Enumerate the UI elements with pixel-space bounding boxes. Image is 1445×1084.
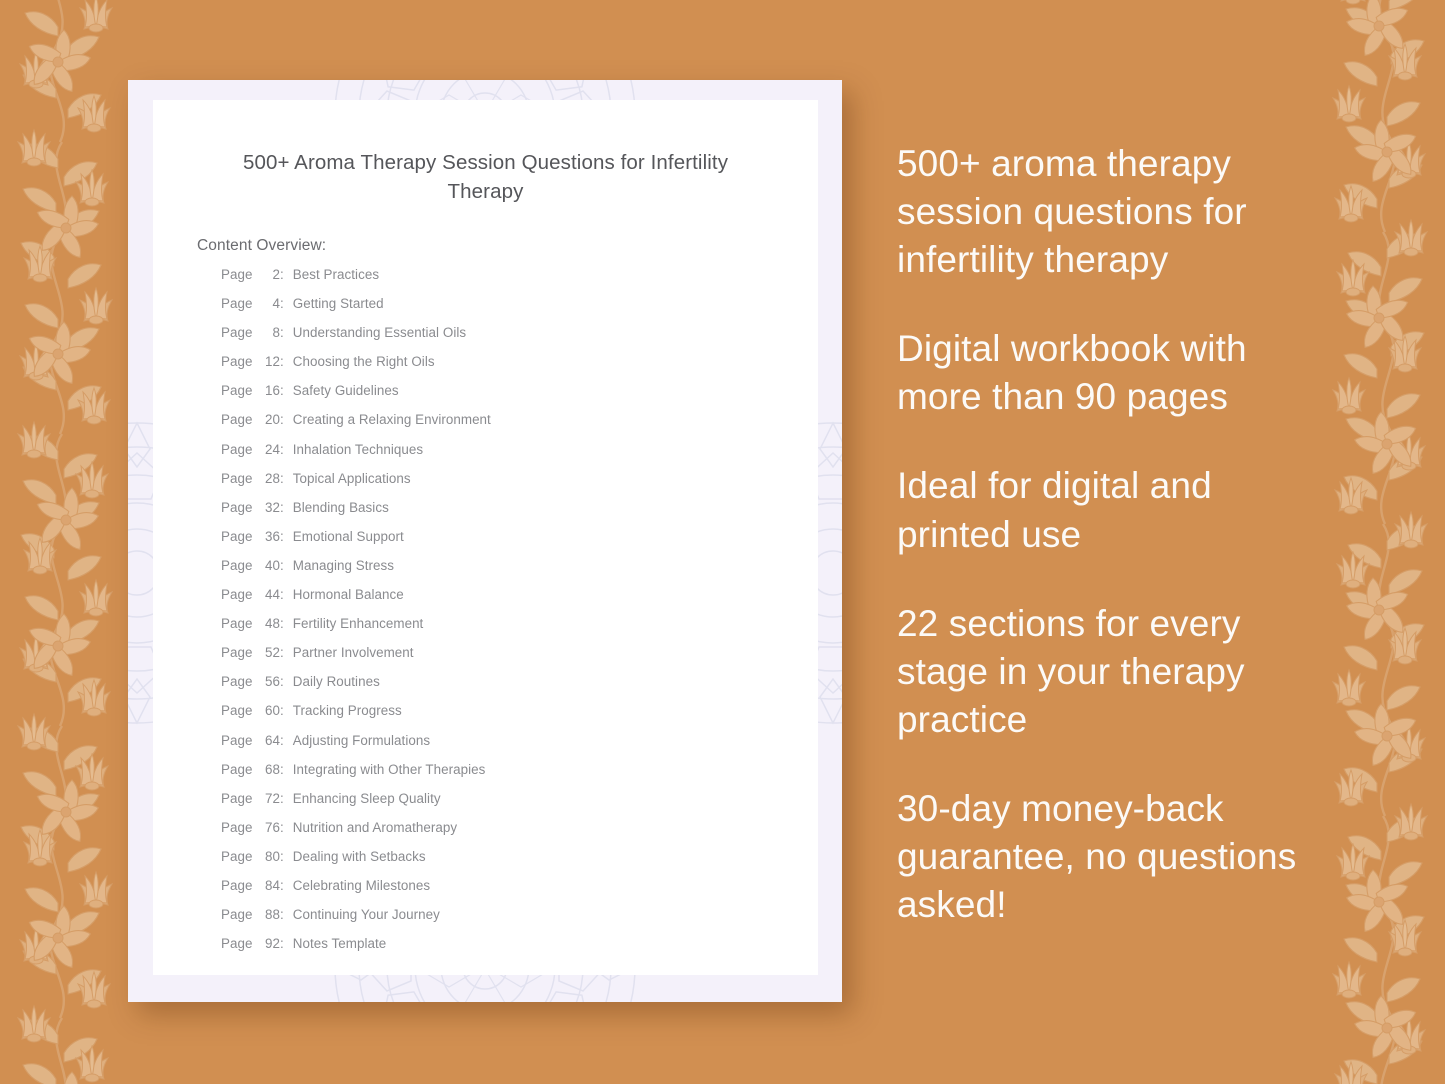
toc-section-title: Enhancing Sleep Quality: [293, 791, 441, 806]
toc-separator: :: [280, 791, 293, 806]
marketing-bullet: 30-day money-back guarantee, no question…: [897, 785, 1327, 929]
toc-page-word: Page: [221, 442, 258, 457]
toc-separator: :: [280, 558, 293, 573]
toc-section-title: Celebrating Milestones: [293, 878, 430, 893]
toc-page-number: 64: [258, 733, 280, 748]
toc-row: Page72:Enhancing Sleep Quality: [221, 791, 781, 820]
toc-row: Page48:Fertility Enhancement: [221, 616, 781, 645]
toc-separator: :: [280, 500, 293, 515]
toc-row: Page4:Getting Started: [221, 296, 781, 325]
toc-section-title: Daily Routines: [293, 674, 380, 689]
toc-section-title: Continuing Your Journey: [293, 907, 440, 922]
toc-page-number: 84: [258, 878, 280, 893]
toc-row: Page12:Choosing the Right Oils: [221, 354, 781, 383]
toc-separator: :: [280, 529, 293, 544]
toc-page-number: 88: [258, 907, 280, 922]
toc-page-number: 72: [258, 791, 280, 806]
workbook-page-card: 500+ Aroma Therapy Session Questions for…: [128, 80, 842, 1002]
toc-section-title: Topical Applications: [293, 471, 411, 486]
toc-page-word: Page: [221, 733, 258, 748]
toc-row: Page16:Safety Guidelines: [221, 383, 781, 412]
toc-page-word: Page: [221, 674, 258, 689]
toc-page-number: 48: [258, 616, 280, 631]
marketing-bullet: Ideal for digital and printed use: [897, 462, 1327, 558]
toc-page-number: 12: [258, 354, 280, 369]
toc-section-title: Inhalation Techniques: [293, 442, 423, 457]
toc-section-title: Creating a Relaxing Environment: [293, 412, 491, 427]
toc-row: Page84:Celebrating Milestones: [221, 878, 781, 907]
toc-section-title: Dealing with Setbacks: [293, 849, 426, 864]
toc-page-word: Page: [221, 500, 258, 515]
workbook-page-sheet: 500+ Aroma Therapy Session Questions for…: [153, 100, 818, 975]
toc-section-title: Safety Guidelines: [293, 383, 399, 398]
toc-separator: :: [280, 674, 293, 689]
toc-page-number: 52: [258, 645, 280, 660]
toc-separator: :: [280, 820, 293, 835]
toc-row: Page52:Partner Involvement: [221, 645, 781, 674]
toc-page-number: 40: [258, 558, 280, 573]
toc-section-title: Fertility Enhancement: [293, 616, 424, 631]
floral-vine-border-left-icon: [0, 0, 136, 1084]
toc-separator: :: [280, 442, 293, 457]
toc-separator: :: [280, 849, 293, 864]
toc-page-word: Page: [221, 820, 258, 835]
toc-row: Page68:Integrating with Other Therapies: [221, 762, 781, 791]
toc-separator: :: [280, 354, 293, 369]
toc-page-word: Page: [221, 354, 258, 369]
toc-page-number: 24: [258, 442, 280, 457]
toc-section-title: Tracking Progress: [293, 703, 402, 718]
toc-page-word: Page: [221, 412, 258, 427]
toc-page-number: 8: [258, 325, 280, 340]
toc-row: Page64:Adjusting Formulations: [221, 733, 781, 762]
toc-page-word: Page: [221, 849, 258, 864]
toc-separator: :: [280, 471, 293, 486]
toc-section-title: Nutrition and Aromatherapy: [293, 820, 457, 835]
toc-separator: :: [280, 762, 293, 777]
toc-row: Page80:Dealing with Setbacks: [221, 849, 781, 878]
marketing-bullet: 500+ aroma therapy session questions for…: [897, 140, 1327, 284]
toc-separator: :: [280, 733, 293, 748]
toc-page-word: Page: [221, 936, 258, 951]
toc-separator: :: [280, 616, 293, 631]
marketing-bullet: Digital workbook with more than 90 pages: [897, 325, 1327, 421]
toc-row: Page8:Understanding Essential Oils: [221, 325, 781, 354]
toc-section-title: Notes Template: [293, 936, 387, 951]
toc-page-number: 56: [258, 674, 280, 689]
marketing-copy-column: 500+ aroma therapy session questions for…: [897, 140, 1327, 929]
toc-row: Page24:Inhalation Techniques: [221, 442, 781, 471]
toc-row: Page56:Daily Routines: [221, 674, 781, 703]
toc-page-word: Page: [221, 645, 258, 660]
toc-page-word: Page: [221, 616, 258, 631]
marketing-bullet: 22 sections for every stage in your ther…: [897, 600, 1327, 744]
toc-separator: :: [280, 703, 293, 718]
toc-page-word: Page: [221, 383, 258, 398]
toc-section-title: Best Practices: [293, 267, 379, 282]
toc-page-number: 16: [258, 383, 280, 398]
toc-separator: :: [280, 296, 293, 311]
toc-section-title: Choosing the Right Oils: [293, 354, 435, 369]
toc-row: Page60:Tracking Progress: [221, 703, 781, 732]
toc-separator: :: [280, 267, 293, 282]
toc-page-word: Page: [221, 325, 258, 340]
toc-row: Page76:Nutrition and Aromatherapy: [221, 820, 781, 849]
toc-page-number: 76: [258, 820, 280, 835]
toc-separator: :: [280, 645, 293, 660]
toc-section-title: Blending Basics: [293, 500, 389, 515]
table-of-contents-list: Page2:Best PracticesPage4:Getting Starte…: [221, 267, 781, 965]
toc-row: Page2:Best Practices: [221, 267, 781, 296]
toc-page-number: 32: [258, 500, 280, 515]
toc-page-word: Page: [221, 791, 258, 806]
toc-page-word: Page: [221, 587, 258, 602]
toc-page-word: Page: [221, 558, 258, 573]
toc-page-word: Page: [221, 878, 258, 893]
toc-row: Page36:Emotional Support: [221, 529, 781, 558]
toc-separator: :: [280, 325, 293, 340]
toc-row: Page40:Managing Stress: [221, 558, 781, 587]
toc-page-number: 44: [258, 587, 280, 602]
toc-section-title: Managing Stress: [293, 558, 394, 573]
toc-row: Page92:Notes Template: [221, 936, 781, 965]
toc-page-number: 2: [258, 267, 280, 282]
toc-separator: :: [280, 878, 293, 893]
toc-row: Page20:Creating a Relaxing Environment: [221, 412, 781, 441]
toc-row: Page88:Continuing Your Journey: [221, 907, 781, 936]
toc-separator: :: [280, 587, 293, 602]
toc-section-title: Integrating with Other Therapies: [293, 762, 486, 777]
toc-page-word: Page: [221, 471, 258, 486]
toc-page-word: Page: [221, 296, 258, 311]
toc-row: Page28:Topical Applications: [221, 471, 781, 500]
toc-row: Page44:Hormonal Balance: [221, 587, 781, 616]
toc-page-number: 68: [258, 762, 280, 777]
toc-page-word: Page: [221, 907, 258, 922]
toc-separator: :: [280, 383, 293, 398]
toc-page-number: 92: [258, 936, 280, 951]
toc-page-number: 20: [258, 412, 280, 427]
toc-page-number: 80: [258, 849, 280, 864]
page-title: 500+ Aroma Therapy Session Questions for…: [213, 148, 758, 206]
toc-page-number: 4: [258, 296, 280, 311]
toc-separator: :: [280, 907, 293, 922]
toc-section-title: Emotional Support: [293, 529, 404, 544]
toc-page-word: Page: [221, 529, 258, 544]
toc-page-word: Page: [221, 762, 258, 777]
toc-page-word: Page: [221, 703, 258, 718]
toc-section-title: Hormonal Balance: [293, 587, 404, 602]
toc-section-title: Partner Involvement: [293, 645, 414, 660]
floral-vine-border-right-icon: [1309, 0, 1445, 1084]
toc-page-word: Page: [221, 267, 258, 282]
toc-section-title: Understanding Essential Oils: [293, 325, 466, 340]
toc-page-number: 28: [258, 471, 280, 486]
toc-page-number: 36: [258, 529, 280, 544]
product-graphic-canvas: 500+ Aroma Therapy Session Questions for…: [0, 0, 1445, 1084]
toc-section-title: Adjusting Formulations: [293, 733, 430, 748]
toc-row: Page32:Blending Basics: [221, 500, 781, 529]
toc-section-title: Getting Started: [293, 296, 384, 311]
toc-page-number: 60: [258, 703, 280, 718]
toc-separator: :: [280, 412, 293, 427]
content-overview-label: Content Overview:: [197, 237, 326, 255]
toc-separator: :: [280, 936, 293, 951]
